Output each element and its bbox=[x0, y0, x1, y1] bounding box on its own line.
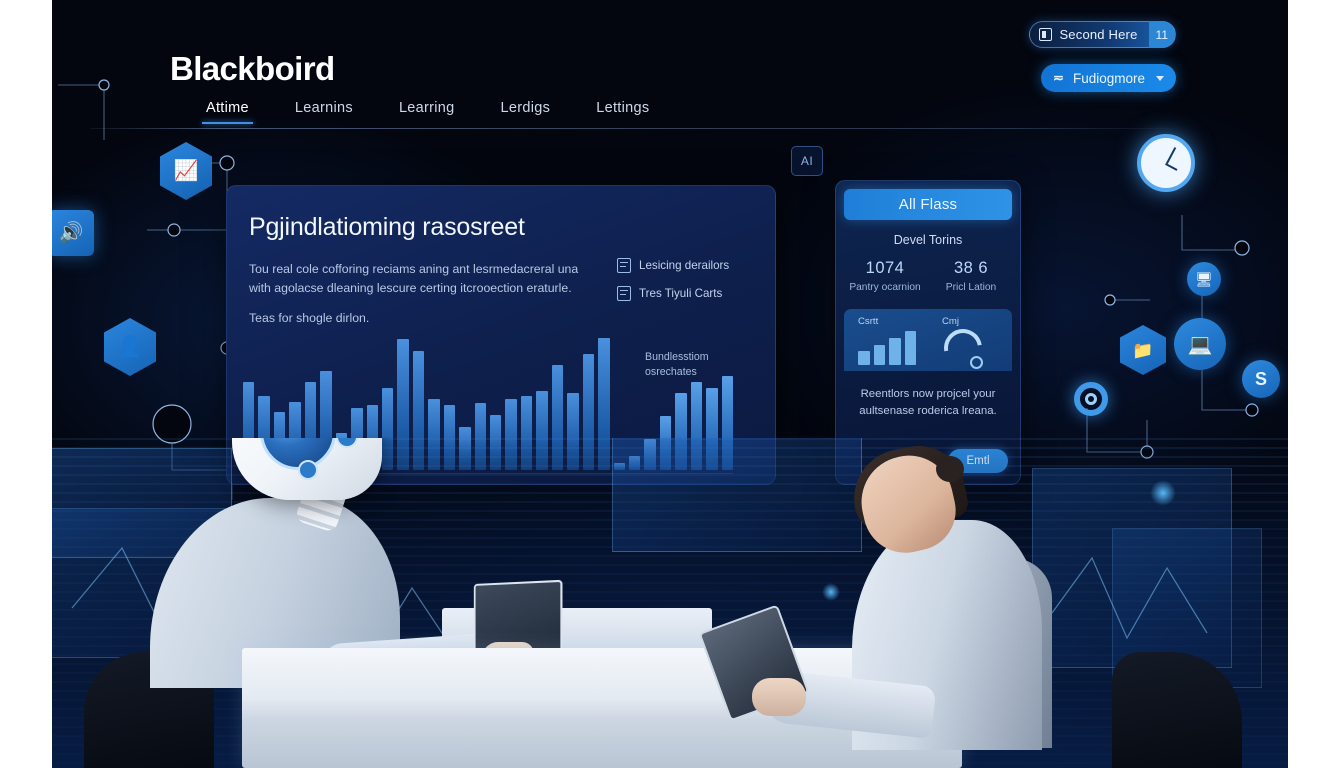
tab-lettings[interactable]: Lettings bbox=[592, 100, 653, 124]
clipboard-icon bbox=[617, 286, 631, 301]
speaker-hex-icon[interactable]: 🔊 bbox=[52, 210, 94, 256]
mini-bar bbox=[889, 338, 901, 365]
stat-label: Pantry ocarnion bbox=[842, 282, 928, 293]
hero-list-item[interactable]: Tres Tiyuli Carts bbox=[617, 286, 729, 301]
hero-description: Tou real cole cofforing reciams aning an… bbox=[249, 260, 599, 328]
nav-divider bbox=[90, 128, 1170, 129]
chevron-down-icon bbox=[1156, 76, 1164, 81]
mini-bar bbox=[858, 351, 870, 365]
card-header-button[interactable]: All Flass bbox=[844, 189, 1012, 220]
laptop-circle-icon[interactable]: 🖥 bbox=[1187, 262, 1221, 296]
tab-attime[interactable]: Attime bbox=[202, 100, 253, 124]
grid-circle-icon[interactable]: 💻 bbox=[1174, 318, 1226, 370]
card-note: Reentlors now projcel your aultsenase ro… bbox=[848, 386, 1008, 419]
hero-list-item-label: Lesicing derailors bbox=[639, 259, 729, 272]
hero-list-item[interactable]: Lesicing derailors bbox=[617, 258, 729, 273]
app-frame: Blackboird AttimeLearninsLearringLerdigs… bbox=[52, 0, 1288, 768]
robot-sensor-dot bbox=[336, 438, 358, 448]
hero-feature-list[interactable]: Lesicing derailorsTres Tiyuli Carts bbox=[617, 258, 729, 301]
list-card-icon bbox=[617, 258, 631, 273]
clock-icon bbox=[1137, 134, 1195, 192]
stack-icon: ≂ bbox=[1053, 70, 1064, 86]
fudiogmore-label: Fudiogmore bbox=[1073, 71, 1145, 86]
tab-learring[interactable]: Learring bbox=[395, 100, 459, 124]
card-subtitle: Devel Torins bbox=[836, 233, 1020, 247]
hero-list-item-label: Tres Tiyuli Carts bbox=[639, 287, 722, 300]
brand-logo: Blackboird bbox=[170, 52, 335, 85]
page-title: Pgjindlatioming rasosreet bbox=[249, 213, 525, 242]
tab-lerdigs[interactable]: Lerdigs bbox=[497, 100, 555, 124]
stat-label: Pricl Lation bbox=[928, 282, 1014, 293]
hero-paragraph: Teas for shogle dirlon. bbox=[249, 309, 599, 328]
hero-paragraph: Tou real cole cofforing reciams aning an… bbox=[249, 260, 599, 298]
screenshot-root: Blackboird AttimeLearninsLearringLerdigs… bbox=[0, 0, 1344, 768]
fudiogmore-dropdown[interactable]: ≂ Fudiogmore bbox=[1041, 64, 1176, 92]
stat-value: 38 6 bbox=[928, 259, 1014, 278]
robot-sensor-dot bbox=[298, 460, 318, 480]
badge-s-icon[interactable]: S bbox=[1242, 360, 1280, 398]
second-here-button[interactable]: Second Here 11 bbox=[1029, 21, 1176, 48]
gear-icon bbox=[1074, 382, 1108, 416]
office-scene bbox=[52, 438, 1288, 768]
ai-chip: AI bbox=[791, 146, 823, 176]
stat-block: 38 6Pricl Lation bbox=[928, 259, 1014, 293]
mini-bar bbox=[874, 345, 886, 365]
tab-learnins[interactable]: Learnins bbox=[291, 100, 357, 124]
person-hair-bun bbox=[936, 456, 964, 482]
person-hand bbox=[752, 678, 806, 716]
second-here-badge: 11 bbox=[1149, 21, 1175, 48]
card-mini-charts: Csrtt Cmj bbox=[844, 309, 1012, 371]
mini-ring-label: Cmj bbox=[942, 316, 959, 327]
stat-value: 1074 bbox=[842, 259, 928, 278]
stat-block: 1074Pantry ocarnion bbox=[842, 259, 928, 293]
mini-bar bbox=[905, 331, 917, 365]
card-stat-row: 1074Pantry ocarnion38 6Pricl Lation bbox=[842, 259, 1014, 293]
chart-annotation: Bundlesstiom osrechates bbox=[645, 350, 755, 381]
second-here-label: Second Here bbox=[1059, 27, 1141, 42]
mini-bar-chart bbox=[858, 331, 916, 365]
grid-icon bbox=[1039, 28, 1052, 41]
mini-bar-label: Csrtt bbox=[858, 316, 878, 327]
nav-tabs[interactable]: AttimeLearninsLearringLerdigsLettings bbox=[202, 100, 653, 124]
donut-chart-secondary-icon bbox=[970, 356, 983, 369]
